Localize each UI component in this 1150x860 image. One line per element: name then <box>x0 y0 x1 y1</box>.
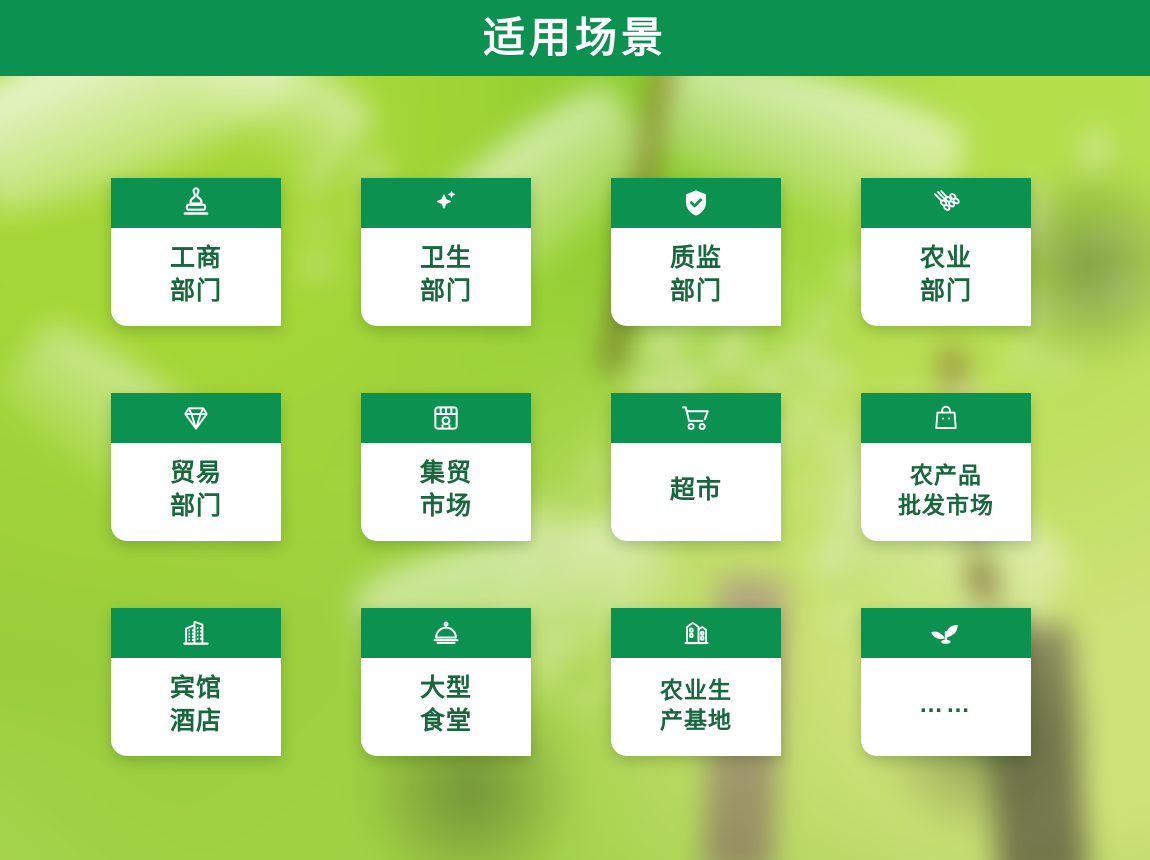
card-label: 卫生 部门 <box>420 242 472 308</box>
shopping-bag-icon <box>931 402 961 434</box>
scenario-card-grid: 工商 部门 卫生 部门 质监 部门 <box>0 76 1150 860</box>
storefront-icon <box>430 402 462 434</box>
card-icon-header <box>611 178 781 228</box>
card-label-area: 农产品 批发市场 <box>861 443 1031 541</box>
card-icon-header <box>361 178 531 228</box>
card-label-area: 质监 部门 <box>611 228 781 326</box>
card-label-area: 宾馆 酒店 <box>111 658 281 756</box>
sprout-icon <box>928 617 964 649</box>
card-label-area: 农业 部门 <box>861 228 1031 326</box>
card-label-area: 工商 部门 <box>111 228 281 326</box>
card-icon-header <box>611 393 781 443</box>
sparkle-icon <box>429 186 463 220</box>
card-icon-header <box>111 178 281 228</box>
diamond-icon <box>179 402 213 434</box>
card-icon-header <box>361 393 531 443</box>
scenario-card-maoyi[interactable]: 贸易 部门 <box>111 393 281 541</box>
card-label: 农产品 批发市场 <box>898 460 994 521</box>
scenario-card-chaoshi[interactable]: 超市 <box>611 393 781 541</box>
card-icon-header <box>611 608 781 658</box>
card-icon-header <box>861 178 1031 228</box>
card-icon-header <box>111 393 281 443</box>
scenario-card-weisheng[interactable]: 卫生 部门 <box>361 178 531 326</box>
card-label-area: 集贸 市场 <box>361 443 531 541</box>
silo-icon <box>681 616 711 650</box>
wheat-icon <box>928 186 964 220</box>
card-label: …… <box>919 689 973 721</box>
card-icon-header <box>361 608 531 658</box>
scenario-card-gongshang[interactable]: 工商 部门 <box>111 178 281 326</box>
card-icon-header <box>861 608 1031 658</box>
card-label: 工商 部门 <box>170 242 222 308</box>
applicable-scenarios-page: 适用场景 <box>0 0 1150 860</box>
page-header: 适用场景 <box>0 0 1150 76</box>
card-label-area: 卫生 部门 <box>361 228 531 326</box>
card-label: 农业 部门 <box>920 242 972 308</box>
shield-check-icon <box>680 186 712 220</box>
scenario-card-nongchanpin-pifa[interactable]: 农产品 批发市场 <box>861 393 1031 541</box>
shopping-cart-icon <box>678 402 714 434</box>
building-icon <box>180 616 212 650</box>
scenario-card-binguan-jiudian[interactable]: 宾馆 酒店 <box>111 608 281 756</box>
scenario-card-daxing-shitang[interactable]: 大型 食堂 <box>361 608 531 756</box>
scenario-card-zhijian[interactable]: 质监 部门 <box>611 178 781 326</box>
scenario-card-jimao-shichang[interactable]: 集贸 市场 <box>361 393 531 541</box>
scenario-card-more[interactable]: …… <box>861 608 1031 756</box>
card-label-area: 超市 <box>611 443 781 541</box>
card-label: 质监 部门 <box>670 242 722 308</box>
scenario-card-nongye-shengchan-jidi[interactable]: 农业生 产基地 <box>611 608 781 756</box>
card-label-area: 大型 食堂 <box>361 658 531 756</box>
card-label-area: 农业生 产基地 <box>611 658 781 756</box>
stamp-icon <box>179 186 213 220</box>
card-label-area: …… <box>861 658 1031 756</box>
card-label: 集贸 市场 <box>420 457 472 523</box>
scenario-card-nongye-bumen[interactable]: 农业 部门 <box>861 178 1031 326</box>
card-icon-header <box>861 393 1031 443</box>
card-label: 超市 <box>670 474 722 507</box>
card-label: 大型 食堂 <box>420 672 472 738</box>
card-label: 农业生 产基地 <box>660 675 732 736</box>
card-icon-header <box>111 608 281 658</box>
card-label: 贸易 部门 <box>170 457 222 523</box>
food-dome-icon <box>429 617 463 649</box>
card-label-area: 贸易 部门 <box>111 443 281 541</box>
card-label: 宾馆 酒店 <box>170 672 222 738</box>
page-title: 适用场景 <box>483 17 667 59</box>
